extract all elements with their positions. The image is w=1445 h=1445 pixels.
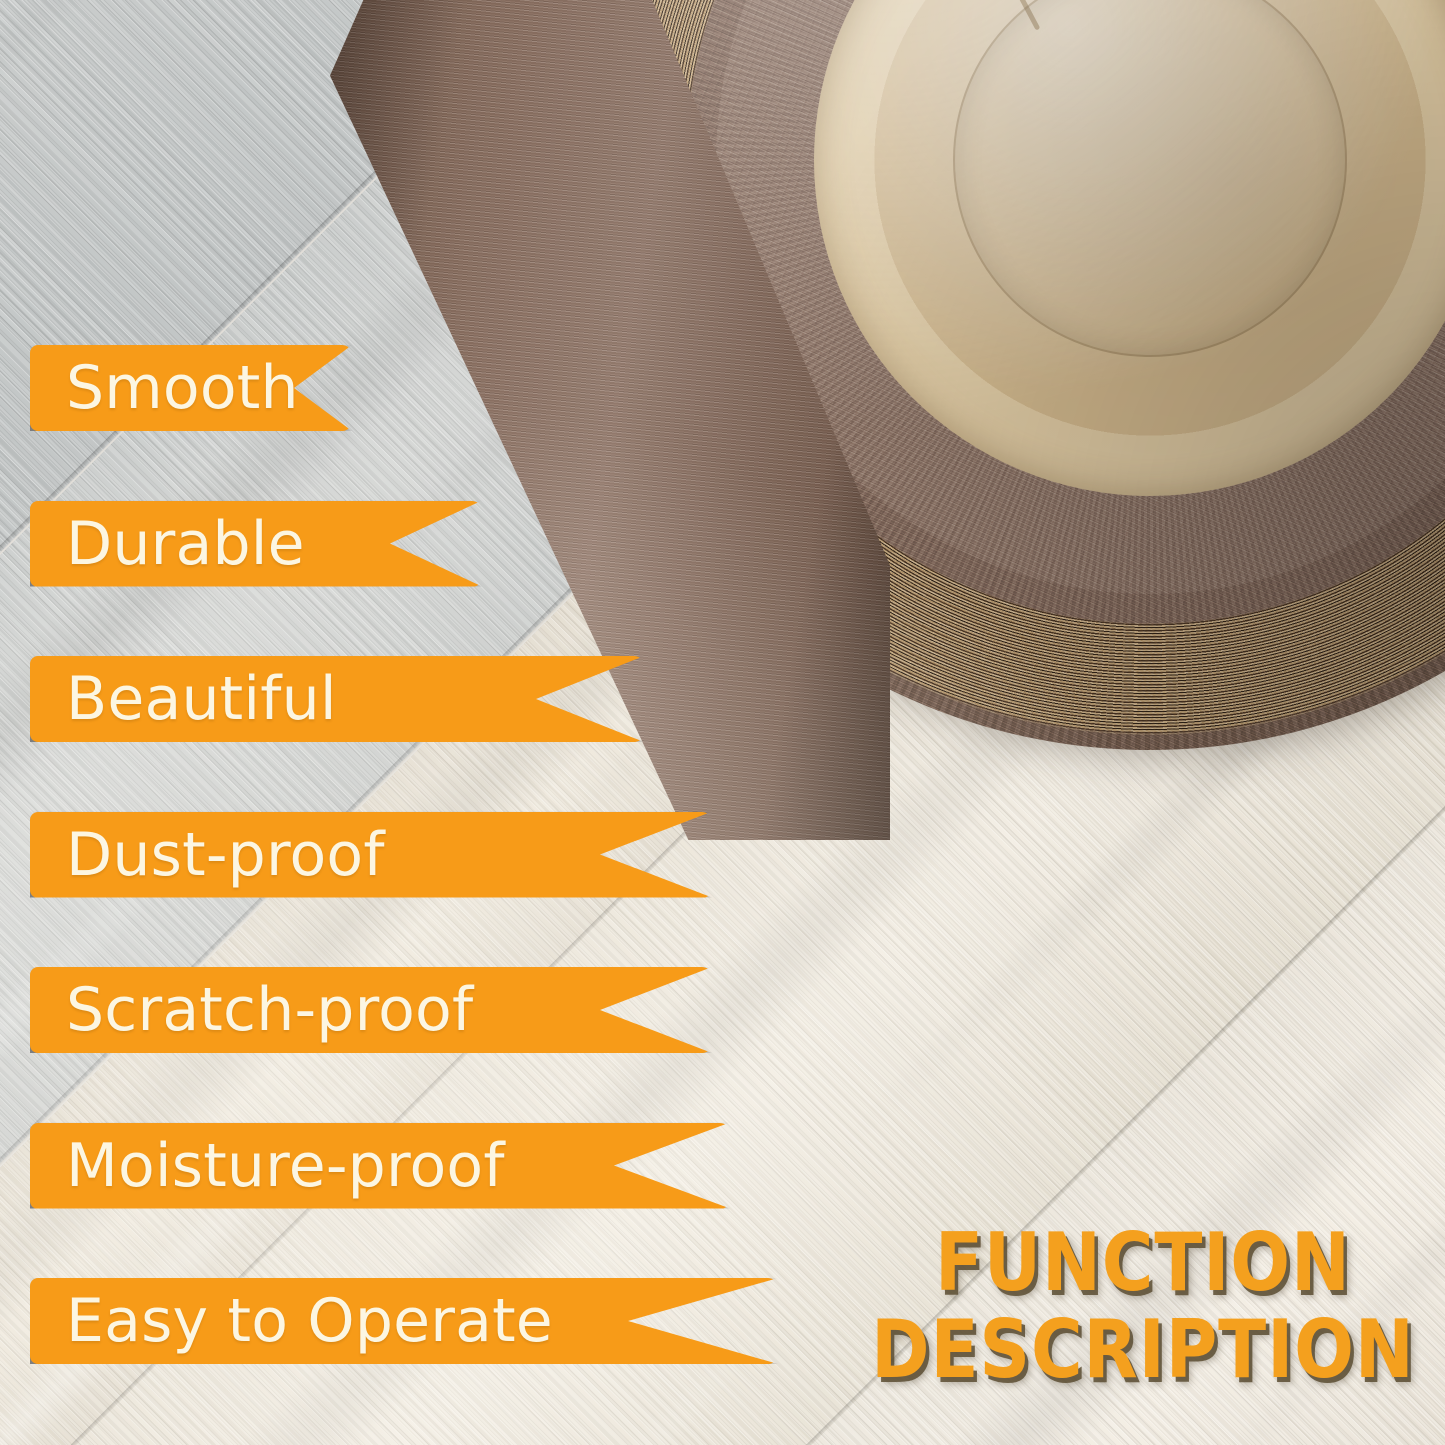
function-description-heading: FUNCTION DESCRIPTION [871,1220,1415,1393]
banner-label: Beautiful [30,669,337,729]
product-feature-image: SmoothDurableBeautifulDust-proofScratch-… [0,0,1445,1445]
banner-label: Dust-proof [30,825,385,885]
banner-label: Durable [30,514,305,574]
heading-line-2: DESCRIPTION [871,1307,1415,1393]
feature-banner: Dust-proof [30,812,712,898]
feature-banner: Scratch-proof [30,967,712,1053]
heading-line-1: FUNCTION [935,1216,1351,1309]
banner-label: Scratch-proof [30,980,473,1040]
banner-label: Moisture-proof [30,1136,505,1196]
feature-banner: Easy to Operate [30,1278,778,1364]
feature-banner: Durable [30,501,482,587]
banner-label: Easy to Operate [30,1291,553,1351]
banner-label: Smooth [30,358,299,418]
feature-banner: Moisture-proof [30,1123,730,1209]
feature-banner: Smooth [30,345,352,431]
feature-banner: Beautiful [30,656,644,742]
